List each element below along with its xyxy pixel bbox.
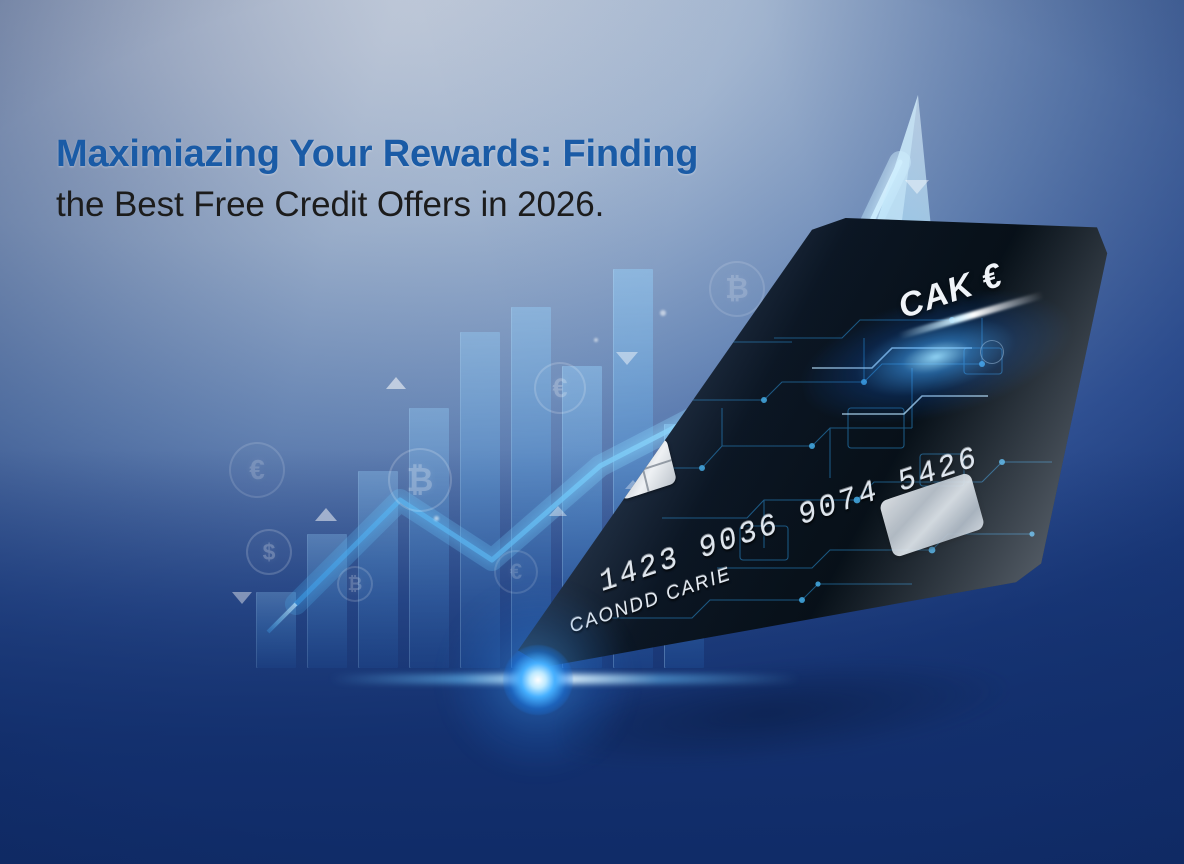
- headline-line-1: Maximiazing Your Rewards: Finding: [56, 131, 856, 177]
- lens-flare-core: [503, 645, 573, 715]
- bitcoin-coin-icon-small: ₿: [337, 566, 373, 602]
- triangle-particle: [315, 508, 337, 521]
- spark-particle: [434, 516, 439, 521]
- triangle-particle: [386, 377, 406, 389]
- triangle-particle: [232, 592, 252, 604]
- triangle-particle: [905, 180, 929, 194]
- headline: Maximiazing Your Rewards: Finding the Be…: [56, 131, 856, 228]
- promo-banner: €$₿₿€€₿€: [0, 0, 1184, 864]
- headline-line-2: the Best Free Credit Offers in 2026.: [56, 182, 856, 228]
- dollar-coin-icon: $: [246, 529, 292, 575]
- bitcoin-coin-icon: ₿: [388, 448, 452, 512]
- euro-coin-icon: €: [229, 442, 285, 498]
